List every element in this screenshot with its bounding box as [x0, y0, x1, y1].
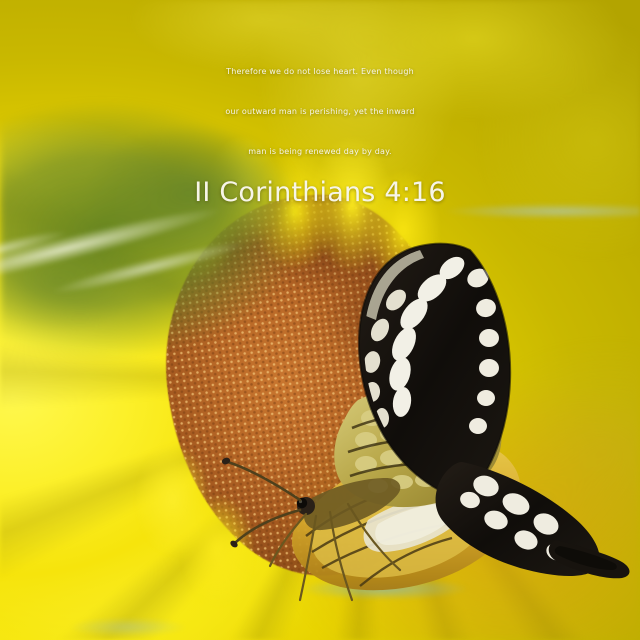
swallowtail-butterfly [0, 0, 640, 640]
scripture-image: Therefore we do not lose heart. Even tho… [0, 0, 640, 640]
